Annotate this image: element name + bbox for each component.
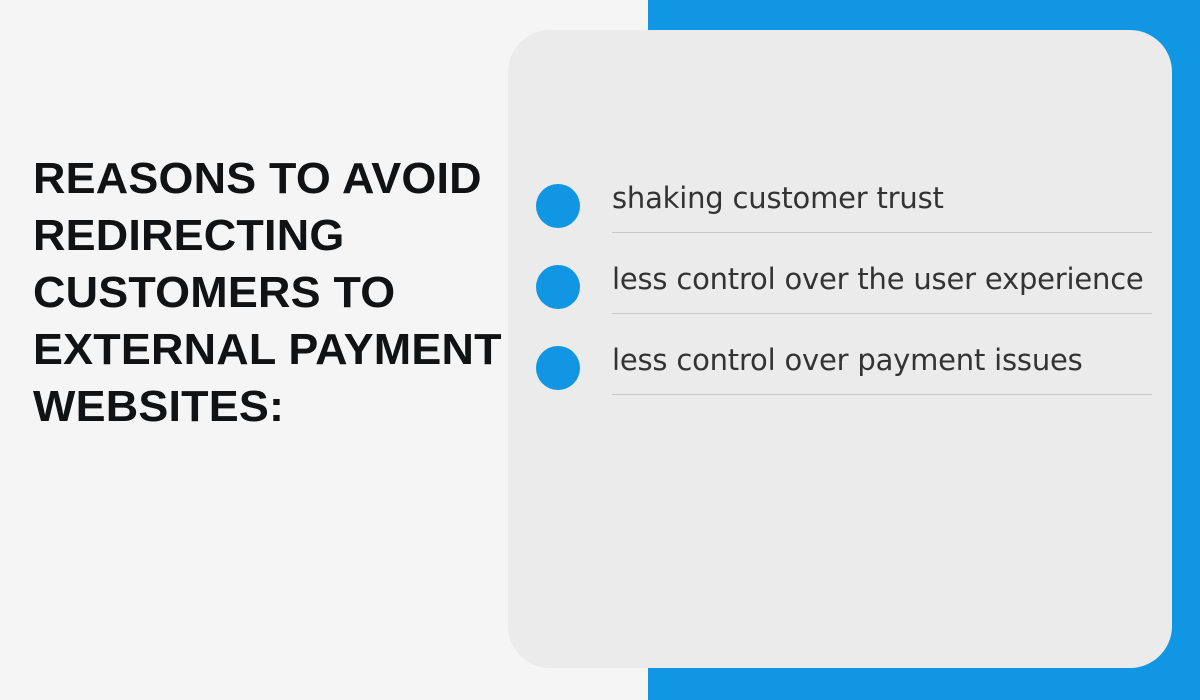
reasons-list: shaking customer trust less control over… xyxy=(536,178,1152,395)
list-item: less control over payment issues xyxy=(536,340,1152,395)
filled-circle-bullet-icon xyxy=(536,346,580,390)
list-item: shaking customer trust xyxy=(536,178,1152,233)
list-item-body: less control over the user experience xyxy=(612,259,1152,314)
list-item-label: shaking customer trust xyxy=(612,178,1152,218)
slide-canvas: REASONS TO AVOID REDIRECTING CUSTOMERS T… xyxy=(0,0,1200,700)
list-item-label: less control over payment issues xyxy=(612,340,1152,380)
bullet-wrap xyxy=(536,178,612,233)
headline-block: REASONS TO AVOID REDIRECTING CUSTOMERS T… xyxy=(33,150,495,435)
page-title: REASONS TO AVOID REDIRECTING CUSTOMERS T… xyxy=(33,150,504,435)
list-item-body: less control over payment issues xyxy=(612,340,1152,395)
list-item: less control over the user experience xyxy=(536,259,1152,314)
bullet-wrap xyxy=(536,340,612,395)
list-item-body: shaking customer trust xyxy=(612,178,1152,233)
filled-circle-bullet-icon xyxy=(536,265,580,309)
filled-circle-bullet-icon xyxy=(536,184,580,228)
list-item-label: less control over the user experience xyxy=(612,259,1152,299)
bullet-wrap xyxy=(536,259,612,314)
